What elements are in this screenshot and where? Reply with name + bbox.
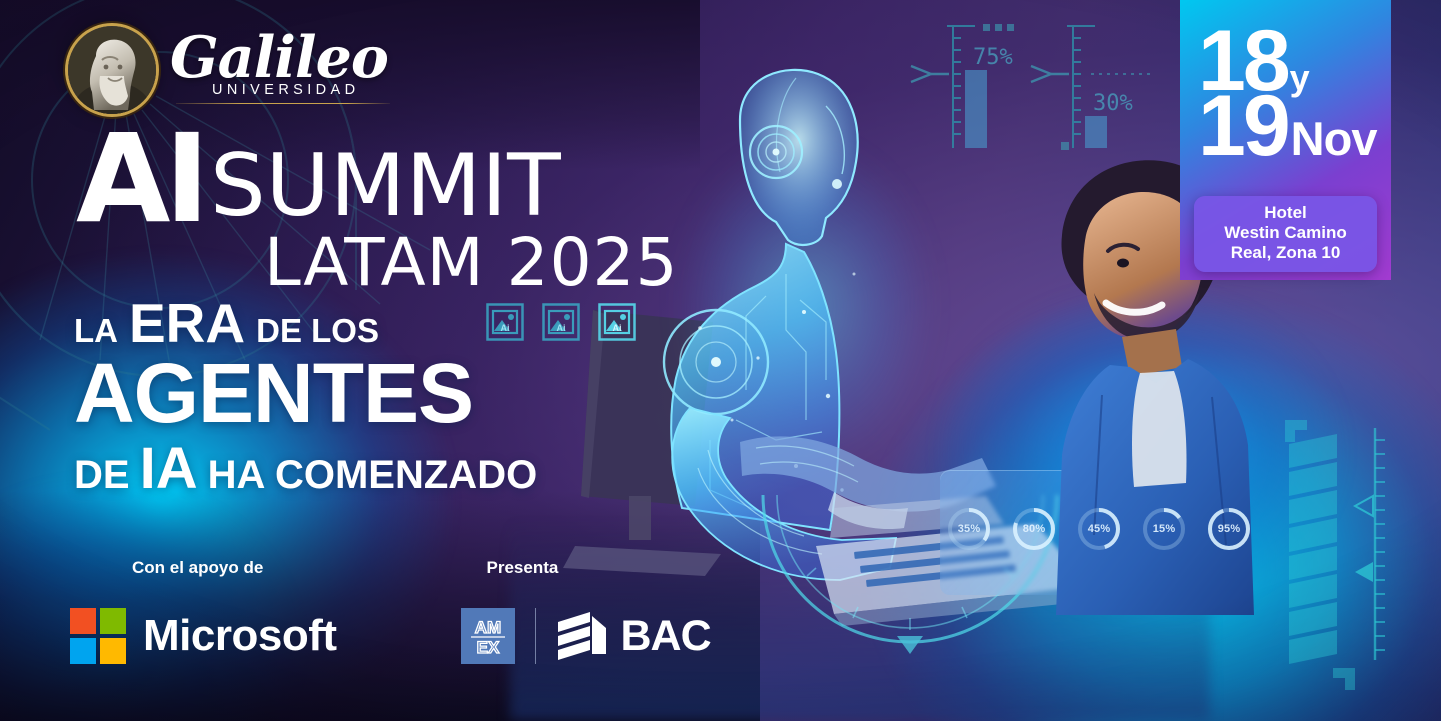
right-edge-decoration <box>1271 410 1421 700</box>
tagline-ia: IA <box>140 440 198 498</box>
ring-gauge-label: 45% <box>1075 505 1123 553</box>
presenting-sponsor-group: Presenta AM EX <box>461 558 711 664</box>
bac-logo[interactable]: BAC <box>556 610 711 662</box>
microsoft-wordmark: Microsoft <box>143 611 337 661</box>
date-month: Nov <box>1291 120 1377 159</box>
ring-gauge-label: 35% <box>945 505 993 553</box>
galileo-bust-icon <box>68 26 156 114</box>
galileo-university-logo[interactable]: Galileo UNIVERSIDAD <box>68 26 390 114</box>
bac-mark-icon <box>556 610 610 662</box>
event-date-panel: 18 y 19 Nov Hotel Westin Camino Real, Zo… <box>1180 0 1391 280</box>
tagline-agentes: AGENTES <box>74 353 537 434</box>
microsoft-squares-icon <box>70 608 126 664</box>
ring-gauge-label: 80% <box>1010 505 1058 553</box>
ring-gauge: 80% <box>1010 505 1058 553</box>
ring-gauge-row: 35% 80% 45% 15% 95% <box>945 505 1253 553</box>
hud-bar-label-1: 30% <box>1093 91 1133 116</box>
ring-gauge: 95% <box>1205 505 1253 553</box>
sponsor-divider <box>535 608 536 664</box>
ai-image-icon: Ai <box>542 303 580 341</box>
event-banner: 75% 30% Ai Ai <box>0 0 1441 721</box>
venue-line-1: Hotel <box>1200 203 1371 223</box>
event-title: AI SUMMIT LATAM 2025 <box>76 131 679 292</box>
venue-line-3: Real, Zona 10 <box>1200 243 1371 263</box>
venue-line-2: Westin Camino <box>1200 223 1371 243</box>
amex-line-2: EX <box>476 638 499 657</box>
tagline-ha-comenzado: HA COMENZADO <box>208 455 538 495</box>
support-sponsor-group: Con el apoyo de Microsoft <box>70 558 337 664</box>
tagline-de-los: DE LOS <box>256 314 379 347</box>
title-latam-year: LATAM 2025 <box>264 233 679 292</box>
galileo-bust-medallion <box>68 26 156 114</box>
sponsor-section: Con el apoyo de Microsoft Presenta AM EX <box>70 558 711 664</box>
support-label: Con el apoyo de <box>132 558 337 578</box>
title-ai: AI <box>76 131 204 229</box>
hud-bar-gauges: 75% 30% <box>905 8 1195 153</box>
ai-chip-label: Ai <box>613 323 622 333</box>
event-tagline: LA ERA DE LOS AGENTES DE IA HA COMENZADO <box>74 296 537 498</box>
ai-chip-label: Ai <box>557 323 566 333</box>
ai-image-icon: Ai <box>598 303 636 341</box>
galileo-underline <box>176 103 390 104</box>
ring-gauge: 35% <box>945 505 993 553</box>
bac-wordmark: BAC <box>621 612 711 661</box>
venue-badge: Hotel Westin Camino Real, Zona 10 <box>1194 196 1377 272</box>
ring-gauge: 15% <box>1140 505 1188 553</box>
amex-logo[interactable]: AM EX <box>461 608 515 664</box>
presents-label: Presenta <box>487 558 711 578</box>
microsoft-logo[interactable]: Microsoft <box>70 608 337 664</box>
tagline-la: LA <box>74 314 118 347</box>
date-conjunction: y <box>1290 63 1310 93</box>
galileo-script-text: Galileo <box>170 32 390 84</box>
tagline-era: ERA <box>129 296 245 351</box>
date-day-2: 19 <box>1198 91 1288 162</box>
amex-line-1: AM <box>474 618 500 637</box>
title-summit: SUMMIT <box>210 150 561 224</box>
ring-gauge-label: 95% <box>1205 505 1253 553</box>
tagline-de: DE <box>74 455 130 495</box>
ring-gauge: 45% <box>1075 505 1123 553</box>
hud-bar-label-0: 75% <box>973 45 1013 70</box>
amex-mark-icon: AM EX <box>461 608 515 664</box>
ring-gauge-label: 15% <box>1140 505 1188 553</box>
galileo-wordmark: Galileo UNIVERSIDAD <box>170 32 390 104</box>
